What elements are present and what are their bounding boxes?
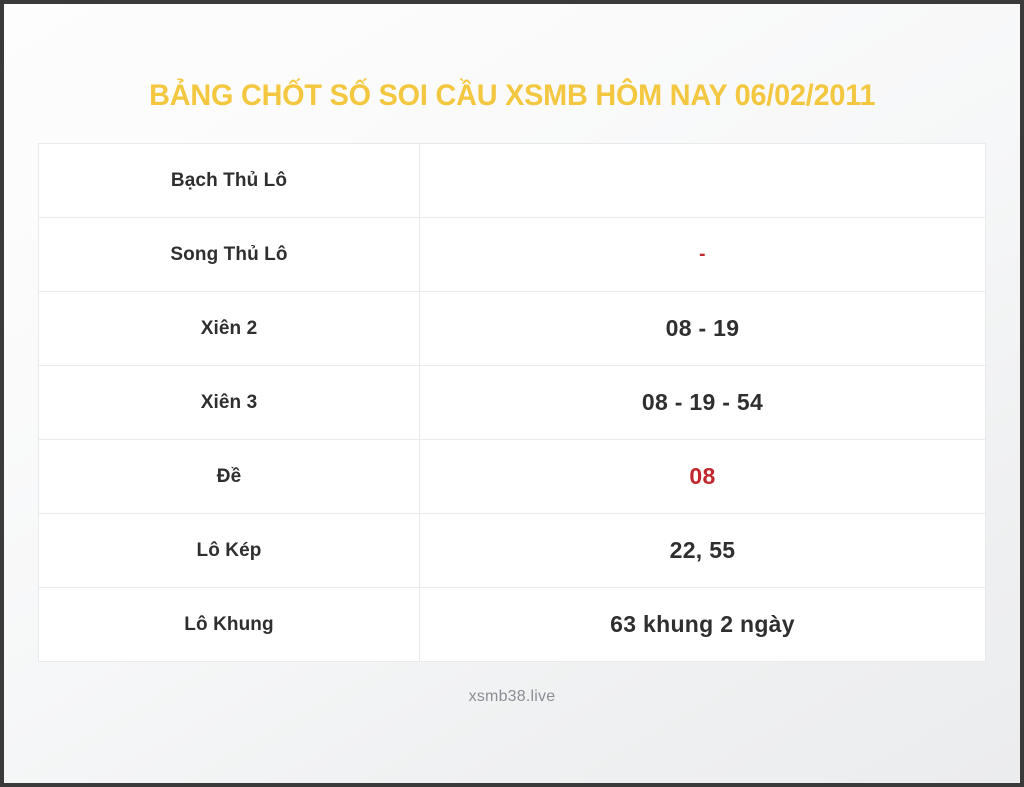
row-value-song-thu-lo: -	[420, 218, 986, 292]
site-watermark: xsmb38.live	[469, 688, 556, 706]
row-label-xien-3: Xiên 3	[39, 366, 420, 440]
row-value-xien-3: 08 - 19 - 54	[420, 366, 986, 440]
row-label-de: Đề	[39, 440, 420, 514]
soi-cau-table: Bạch Thủ Lô Song Thủ Lô - Xiên 2 08 - 19…	[38, 143, 986, 662]
table-row: Xiên 3 08 - 19 - 54	[39, 366, 986, 440]
row-value-lo-kep: 22, 55	[420, 514, 986, 588]
table-row: Lô Khung 63 khung 2 ngày	[39, 588, 986, 662]
row-label-lo-khung: Lô Khung	[39, 588, 420, 662]
page-title: BẢNG CHỐT SỐ SOI CẦU XSMB HÔM NAY 06/02/…	[149, 79, 875, 112]
row-value-de: 08	[420, 440, 986, 514]
page-frame: BẢNG CHỐT SỐ SOI CẦU XSMB HÔM NAY 06/02/…	[0, 0, 1024, 787]
row-value-lo-khung: 63 khung 2 ngày	[420, 588, 986, 662]
table-row: Song Thủ Lô -	[39, 218, 986, 292]
row-label-xien-2: Xiên 2	[39, 292, 420, 366]
row-label-bach-thu-lo: Bạch Thủ Lô	[39, 144, 420, 218]
table-body: Bạch Thủ Lô Song Thủ Lô - Xiên 2 08 - 19…	[39, 144, 986, 662]
table-row: Xiên 2 08 - 19	[39, 292, 986, 366]
row-value-xien-2: 08 - 19	[420, 292, 986, 366]
table-row: Đề 08	[39, 440, 986, 514]
table-row: Bạch Thủ Lô	[39, 144, 986, 218]
row-label-song-thu-lo: Song Thủ Lô	[39, 218, 420, 292]
table-row: Lô Kép 22, 55	[39, 514, 986, 588]
soi-cau-table-wrapper: Bạch Thủ Lô Song Thủ Lô - Xiên 2 08 - 19…	[38, 143, 986, 662]
row-value-bach-thu-lo	[420, 144, 986, 218]
row-label-lo-kep: Lô Kép	[39, 514, 420, 588]
